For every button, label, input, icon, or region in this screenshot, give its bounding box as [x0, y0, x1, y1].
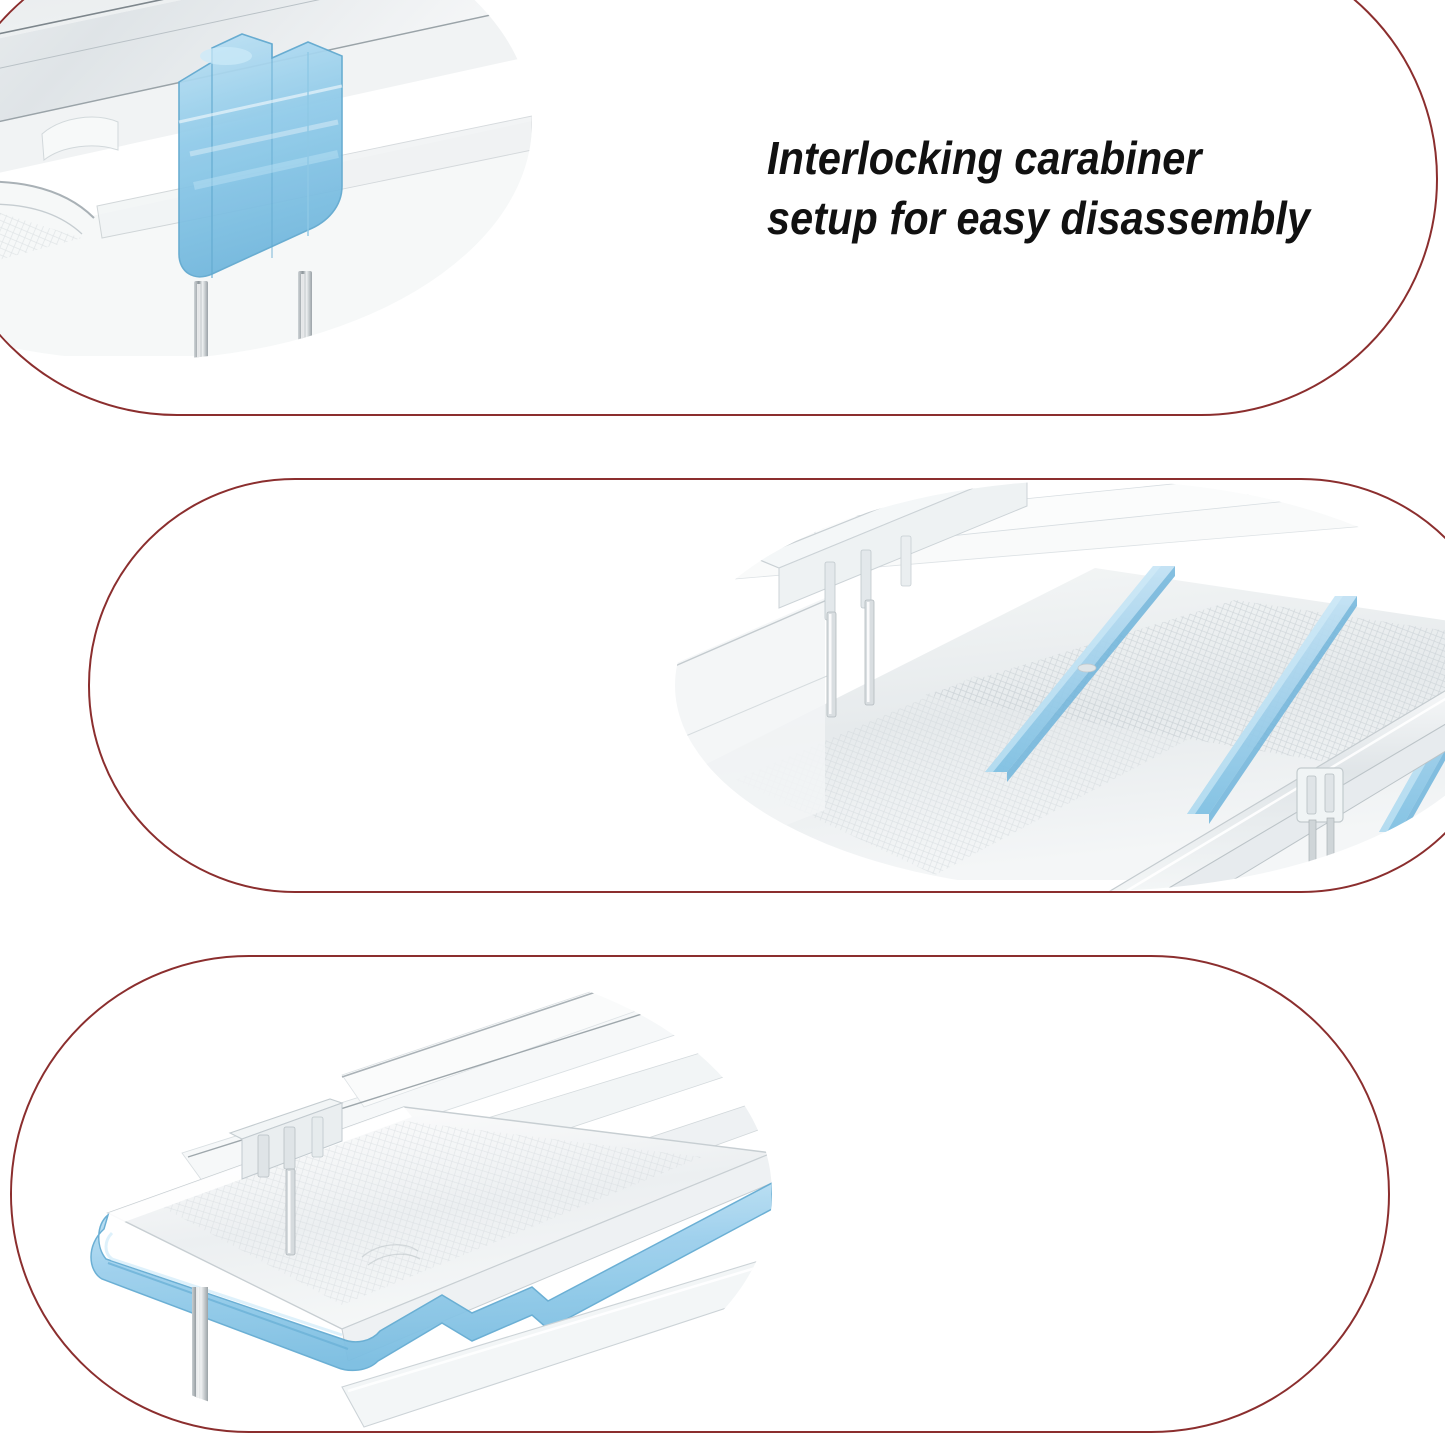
feature-panel-open-mouth-design: Open mouth design, items are not easy to…	[10, 955, 1390, 1433]
feature-panel-interlocking-carabiner: Interlocking carabiner setup for easy di…	[0, 0, 1438, 416]
photo-carabiner-clip	[0, 0, 532, 360]
photo-sliding-shelf	[675, 480, 1445, 891]
photo-open-mouth-shelf	[12, 957, 772, 1431]
panel-1-caption: Interlocking carabiner setup for easy di…	[767, 129, 1361, 249]
feature-panel-smooth-glide: Smooth glide for easy access	[88, 478, 1445, 893]
